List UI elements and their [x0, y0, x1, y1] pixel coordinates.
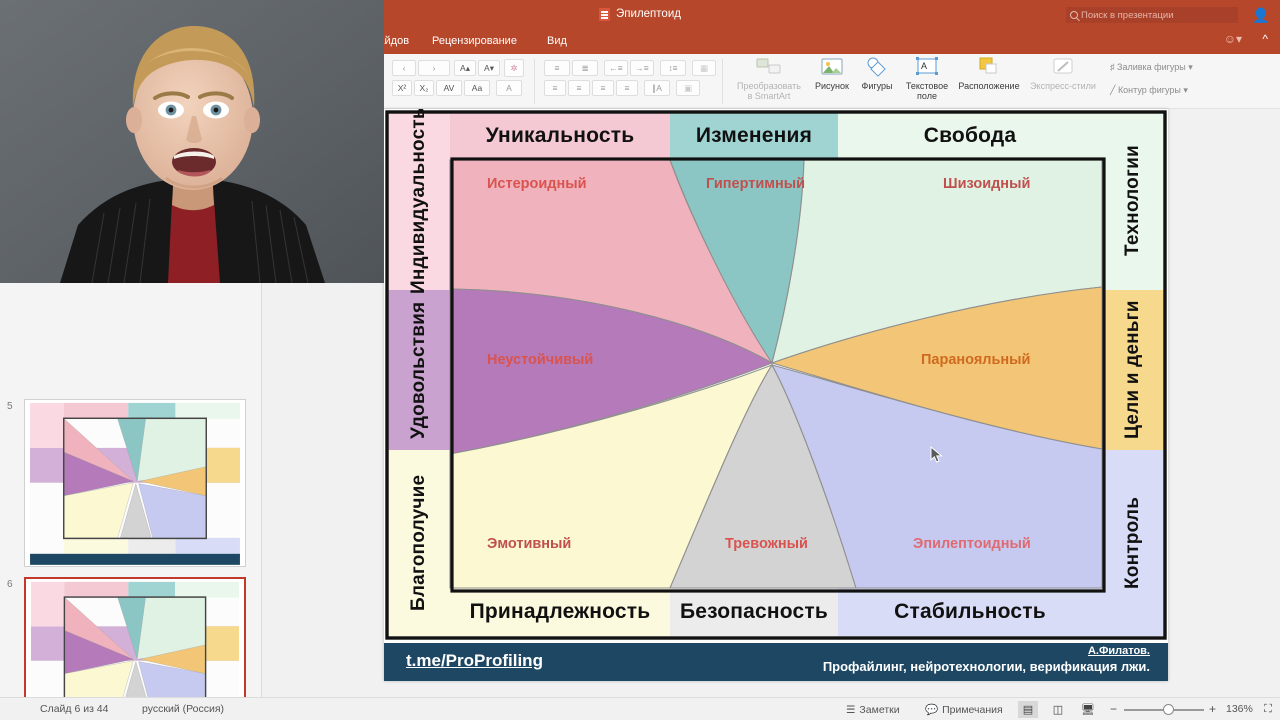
increase-indent-icon[interactable]: →≡ [630, 60, 654, 76]
shape-outline-button[interactable]: ╱ Контур фигуры ▾ [1110, 85, 1188, 96]
shrink-font-button[interactable]: A▾ [478, 60, 500, 76]
picture-button[interactable]: Рисунок [808, 57, 856, 91]
normal-view-icon[interactable]: ▤ [1018, 701, 1038, 718]
chevron-up-icon[interactable]: ^ [1262, 32, 1268, 46]
font-color-button[interactable]: A [496, 80, 522, 96]
type-label-hyperthymic: Гипертимный [706, 176, 805, 192]
superscript-button[interactable]: X² [392, 80, 412, 96]
axis-label-stability: Стабильность [838, 588, 1102, 636]
author-name: А.Филатов. [1088, 645, 1150, 657]
type-label-unstable: Неустойчивый [487, 352, 593, 368]
notes-label: Заметки [859, 704, 899, 716]
search-input[interactable]: Поиск в презентации [1066, 7, 1238, 23]
menu-item-review[interactable]: Рецензирование [432, 28, 517, 54]
grow-font-button[interactable]: A▴ [454, 60, 476, 76]
thumbnail-number-6: 6 [7, 579, 13, 590]
type-label-epileptoid: Эпилептоидный [913, 536, 1031, 552]
search-icon [1070, 11, 1078, 19]
zoom-out-button[interactable]: − [1110, 702, 1117, 716]
axis-label-belonging: Принадлежность [450, 588, 670, 636]
comments-label: Примечания [942, 704, 1003, 716]
smartart-icon [736, 57, 802, 79]
text-box-label-line2: поле [898, 91, 956, 101]
axis-label-freedom: Свобода [838, 112, 1102, 160]
quick-styles-label: Экспресс-стили [1026, 81, 1100, 91]
personality-types-diagram: Уникальность Изменения Свобода Принадлеж… [384, 109, 1168, 681]
axis-label-wellbeing: Благополучие [388, 450, 450, 636]
comments-icon: 💬 [925, 703, 938, 716]
powerpoint-window: Эпилептоид Поиск в презентации 👤+ лайдов… [0, 0, 1280, 720]
smartart-label-line1: Преобразовать [736, 81, 802, 91]
axis-label-technologies: Технологии [1102, 112, 1164, 290]
type-label-hysteroid: Истероидный [487, 176, 587, 192]
bulleted-list-icon[interactable]: ≡ [544, 60, 570, 76]
clear-formatting-icon[interactable]: ✲ [504, 59, 524, 77]
axis-label-control: Контроль [1102, 450, 1164, 636]
status-bar: Слайд 6 из 44 русский (Россия) ☰ Заметки… [0, 697, 1280, 720]
slide-sorter-icon[interactable]: ◫ [1048, 701, 1068, 718]
align-center-icon[interactable]: ≡ [568, 80, 590, 96]
shapes-button[interactable]: Фигуры [854, 57, 900, 91]
slide-thumbnail-6[interactable] [24, 577, 246, 697]
text-direction-icon[interactable]: ∥A [644, 80, 670, 96]
menu-item-view[interactable]: Вид [547, 28, 567, 54]
quick-styles-icon [1026, 57, 1100, 79]
axis-label-pleasures: Удовольствия [388, 290, 450, 450]
active-slide[interactable]: Уникальность Изменения Свобода Принадлеж… [384, 109, 1168, 681]
picture-label: Рисунок [808, 81, 856, 91]
fit-slide-icon[interactable]: ⛶ [1258, 701, 1278, 718]
columns-icon[interactable]: ▦ [692, 60, 716, 76]
slide-footer-banner: t.me/ProProfiling А.Филатов. Профайлинг,… [384, 643, 1168, 681]
text-box-button[interactable]: A Текстовое поле [898, 57, 956, 101]
smartart-label-line2: в SmartArt [736, 91, 802, 101]
webcam-overlay [0, 0, 384, 283]
axis-label-changes: Изменения [670, 112, 838, 160]
align-right-icon[interactable]: ≡ [592, 80, 614, 96]
telegram-link[interactable]: t.me/ProProfiling [406, 651, 543, 671]
arrange-button[interactable]: Расположение [956, 57, 1022, 91]
svg-text:A: A [921, 61, 927, 71]
shape-outline-label: Контур фигуры [1118, 85, 1181, 95]
zoom-slider-handle[interactable] [1163, 704, 1174, 715]
shapes-icon [854, 57, 900, 79]
share-person-icon[interactable]: 👤+ [1252, 6, 1270, 24]
zoom-level: 136% [1226, 703, 1253, 715]
picture-icon [808, 57, 856, 79]
arrange-label: Расположение [956, 81, 1022, 91]
change-case-button[interactable]: Aa [464, 80, 490, 96]
font-size-prev[interactable]: ‹ [392, 60, 416, 76]
line-spacing-icon[interactable]: ↕≡ [660, 60, 686, 76]
shape-fill-label: Заливка фигуры [1117, 62, 1186, 72]
align-text-icon[interactable]: ▣ [676, 80, 700, 96]
convert-to-smartart-button[interactable]: Преобразовать в SmartArt [736, 57, 802, 101]
slide-counter: Слайд 6 из 44 [40, 703, 109, 715]
shape-fill-icon: ♯ [1110, 62, 1115, 72]
text-box-label-line1: Текстовое [898, 81, 956, 91]
justify-icon[interactable]: ≡ [616, 80, 638, 96]
notes-button[interactable]: ☰ Заметки [846, 701, 900, 718]
decrease-indent-icon[interactable]: ←≡ [604, 60, 628, 76]
type-label-anxious: Тревожный [725, 536, 808, 552]
arrange-icon [956, 57, 1022, 79]
notes-icon: ☰ [846, 704, 855, 716]
comments-button[interactable]: 💬 Примечания [925, 701, 1003, 718]
char-spacing-button[interactable]: AV [436, 80, 462, 96]
align-left-icon[interactable]: ≡ [544, 80, 566, 96]
smiley-icon[interactable]: ☺▾ [1224, 32, 1242, 46]
document-title: Эпилептоид [616, 8, 681, 20]
shape-outline-icon: ╱ [1110, 85, 1115, 95]
shape-fill-button[interactable]: ♯ Заливка фигуры ▾ [1110, 62, 1193, 73]
tagline: Профайлинг, нейротехнологии, верификация… [823, 659, 1150, 674]
axis-label-goals-money: Цели и деньги [1102, 290, 1164, 450]
subscript-button[interactable]: X₂ [414, 80, 434, 96]
axis-label-security: Безопасность [670, 588, 838, 636]
type-label-paranoid: Паранояльный [921, 352, 1030, 368]
axis-label-uniqueness: Уникальность [450, 112, 670, 160]
numbered-list-icon[interactable]: ≣ [572, 60, 598, 76]
powerpoint-doc-icon [599, 8, 610, 21]
search-placeholder: Поиск в презентации [1081, 10, 1174, 21]
quick-styles-button[interactable]: Экспресс-стили [1026, 57, 1100, 91]
type-label-schizoid: Шизоидный [943, 176, 1030, 192]
slide-thumbnail-5[interactable] [24, 399, 246, 567]
language-indicator[interactable]: русский (Россия) [142, 703, 224, 715]
shapes-label: Фигуры [854, 81, 900, 91]
zoom-in-button[interactable]: + [1209, 702, 1216, 716]
type-label-emotive: Эмотивный [487, 536, 571, 552]
text-box-icon: A [898, 57, 956, 79]
font-size-next[interactable]: › [418, 60, 450, 76]
reading-view-icon[interactable]: 🖥 [1078, 701, 1098, 718]
axis-label-individuality: Индивидуальность [388, 112, 450, 290]
thumbnail-number-5: 5 [7, 401, 13, 412]
